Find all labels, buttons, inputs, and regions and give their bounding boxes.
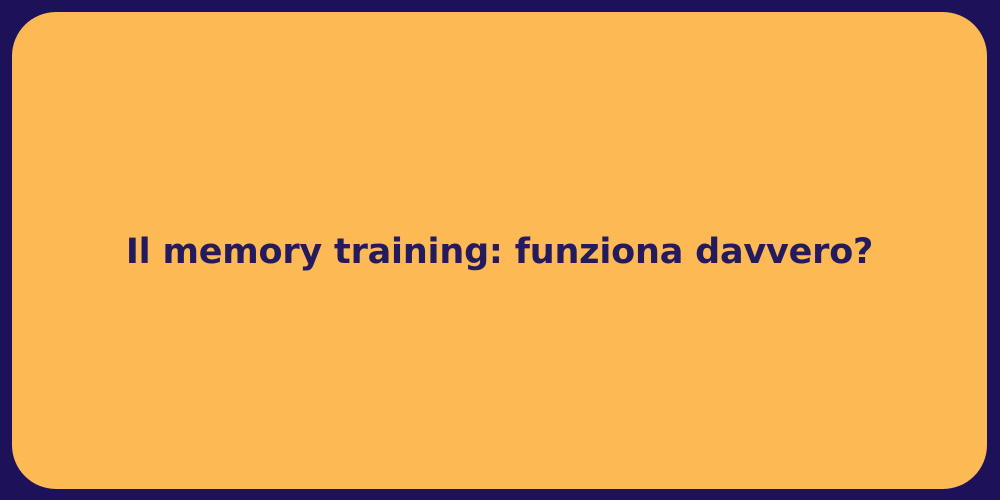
banner-title: Il memory training: funziona davvero? [126,231,873,275]
banner-content: Il memory training: funziona davvero? [12,229,987,273]
banner-frame: Il memory training: funziona davvero? [0,0,1000,500]
banner-card: Il memory training: funziona davvero? [12,12,987,489]
